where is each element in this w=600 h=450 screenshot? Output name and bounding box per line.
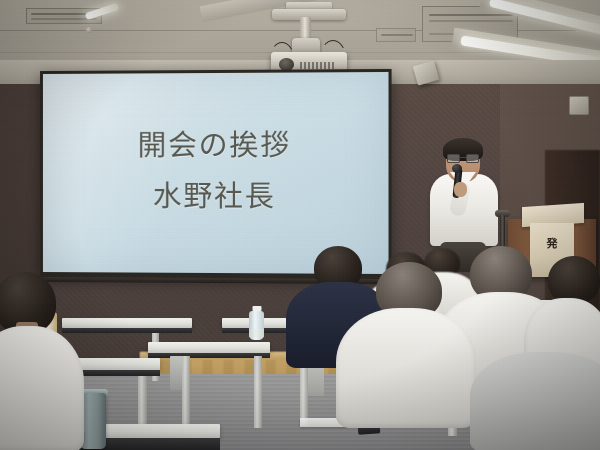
water-bottle — [249, 306, 264, 340]
attendee-body — [336, 308, 476, 428]
table-row — [148, 342, 270, 353]
sprinkler-head — [86, 27, 92, 33]
attendee-head — [548, 256, 600, 304]
slide-title-line2: 水野社長 — [43, 173, 389, 215]
table-leg — [254, 356, 262, 428]
attendee-body — [470, 352, 600, 450]
ac-vent-panel — [376, 28, 416, 42]
conference-room-photo: 開会の挨拶 水野社長 発 — [0, 0, 600, 450]
wall-control-box — [569, 96, 589, 115]
lectern-emblem: 発 — [544, 237, 560, 250]
table-row — [62, 318, 192, 328]
glasses-icon — [447, 154, 479, 163]
slide-title-line1: 開会の挨拶 — [43, 121, 389, 164]
projector-vent — [300, 62, 334, 69]
table-edge — [148, 353, 270, 358]
presenter-hand — [454, 182, 467, 197]
table-edge — [62, 328, 192, 333]
projection-screen-surface: 開会の挨拶 水野社長 — [43, 72, 389, 274]
microphone-head-icon — [452, 164, 462, 173]
table-leg — [182, 356, 190, 426]
